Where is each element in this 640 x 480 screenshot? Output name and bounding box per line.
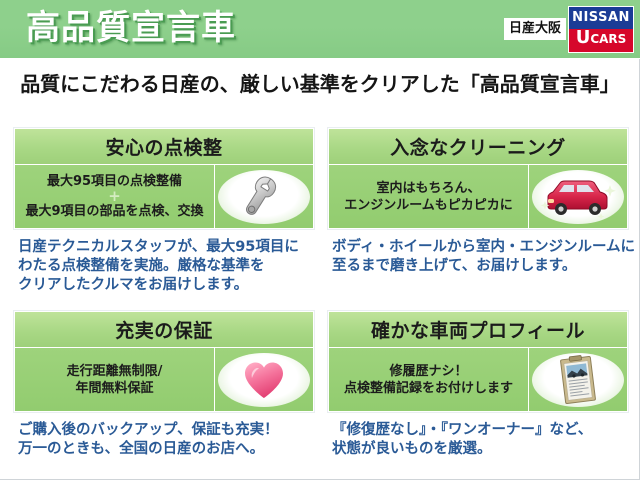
feature-grid: 安心の点検整 最大95項目の点検整備 + 最大9項目の部品を点検、交換 — [14, 128, 628, 459]
card-title-inspection: 安心の点検整 — [15, 129, 313, 164]
subtext-line-1: 走行距離無制限/ — [67, 363, 163, 380]
plus-separator-icon: + — [108, 190, 121, 203]
icon-backdrop — [218, 170, 310, 224]
icon-backdrop — [532, 353, 624, 407]
subtext-line-2: エンジンルームもピカピカに — [344, 197, 513, 214]
card-body-warranty: 走行距離無制限/ 年間無料保証 — [15, 347, 313, 411]
nissan-ucars-logo: NISSAN UCARS — [568, 6, 634, 53]
feature-card-cleaning: 入念なクリーニング 室内はもちろん、 エンジンルームもピカピカに — [328, 128, 628, 229]
feature-card-inspection: 安心の点検整 最大95項目の点検整備 + 最大9項目の部品を点検、交換 — [14, 128, 314, 229]
card-title-cleaning: 入念なクリーニング — [329, 129, 627, 164]
caption-line-3: クリアしたクルマをお届けします。 — [18, 276, 312, 295]
header-band: 高品質宣言車 日産大阪 NISSAN UCARS — [0, 0, 640, 59]
caption-line-2: 万一のときも、全国の日産のお店へ。 — [18, 440, 312, 459]
caption-line-1: 日産テクニカルスタッフが、最大95項目に — [18, 238, 312, 257]
record-document-icon — [555, 355, 601, 405]
heart-icon — [242, 359, 286, 401]
icon-box-profile — [528, 348, 627, 411]
icon-box-cleaning — [528, 165, 627, 228]
icon-box-warranty — [214, 348, 313, 411]
card-subtext-warranty: 走行距離無制限/ 年間無料保証 — [15, 348, 214, 411]
subtext-line-2: 年間無料保証 — [75, 380, 153, 397]
ucars-wordmark: UCARS — [569, 29, 633, 52]
card-caption-profile: 『修復歴なし』・『ワンオーナー』など、 状態が良いものを厳選。 — [328, 412, 628, 459]
feature-cell-profile: 確かな車両プロフィール 修履歴ナシ！ 点検整備記録をお付けします — [328, 311, 628, 459]
card-subtext-inspection: 最大95項目の点検整備 + 最大9項目の部品を点検、交換 — [15, 165, 214, 228]
feature-cell-warranty: 充実の保証 走行距離無制限/ 年間無料保証 — [14, 311, 314, 459]
card-body-profile: 修履歴ナシ！ 点検整備記録をお付けします — [329, 347, 627, 411]
subtext-line-2: 最大9項目の部品を点検、交換 — [25, 203, 203, 220]
subtext-line-1: 室内はもちろん、 — [376, 180, 480, 197]
icon-box-inspection — [214, 165, 313, 228]
icon-backdrop — [532, 170, 624, 224]
red-car-icon — [540, 175, 616, 219]
card-caption-inspection: 日産テクニカルスタッフが、最大95項目に わたる点検整備を実施。厳格な基準を ク… — [14, 229, 314, 295]
card-title-profile: 確かな車両プロフィール — [329, 312, 627, 347]
page-headline: 品質にこだわる日産の、厳しい基準をクリアした「高品質宣言車」 — [0, 62, 640, 106]
nissan-wordmark: NISSAN — [569, 7, 633, 30]
card-caption-warranty: ご購入後のバックアップ、保証も充実！ 万一のときも、全国の日産のお店へ。 — [14, 412, 314, 459]
caption-line-2: 状態が良いものを厳選。 — [332, 440, 626, 459]
feature-card-warranty: 充実の保証 走行距離無制限/ 年間無料保証 — [14, 311, 314, 412]
dealer-badge: 日産大阪 — [504, 18, 566, 40]
brand-title: 高品質宣言車 — [26, 6, 236, 50]
caption-line-1: 『修復歴なし』・『ワンオーナー』など、 — [332, 421, 626, 440]
subtext-line-2: 点検整備記録をお付けします — [344, 380, 513, 397]
card-subtext-profile: 修履歴ナシ！ 点検整備記録をお付けします — [329, 348, 528, 411]
caption-line-2: わたる点検整備を実施。厳格な基準を — [18, 257, 312, 276]
wrench-icon — [238, 174, 290, 220]
brand-logos: 日産大阪 NISSAN UCARS — [504, 5, 634, 53]
card-subtext-cleaning: 室内はもちろん、 エンジンルームもピカピカに — [329, 165, 528, 228]
promo-page: 高品質宣言車 日産大阪 NISSAN UCARS 品質にこだわる日産の、厳しい基… — [0, 0, 640, 480]
feature-cell-inspection: 安心の点検整 最大95項目の点検整備 + 最大9項目の部品を点検、交換 — [14, 128, 314, 295]
card-caption-cleaning: ボディ・ホイールから室内・エンジンルームに 至るまで磨き上げて、お届けします。 — [328, 229, 628, 276]
caption-line-2: 至るまで磨き上げて、お届けします。 — [332, 257, 626, 276]
icon-backdrop — [218, 353, 310, 407]
caption-line-1: ボディ・ホイールから室内・エンジンルームに — [332, 238, 626, 257]
subtext-line-1: 修履歴ナシ！ — [389, 363, 467, 380]
card-title-warranty: 充実の保証 — [15, 312, 313, 347]
feature-cell-cleaning: 入念なクリーニング 室内はもちろん、 エンジンルームもピカピカに — [328, 128, 628, 295]
card-body-inspection: 最大95項目の点検整備 + 最大9項目の部品を点検、交換 — [15, 164, 313, 228]
ucars-letter-u: U — [576, 29, 591, 47]
feature-card-profile: 確かな車両プロフィール 修履歴ナシ！ 点検整備記録をお付けします — [328, 311, 628, 412]
card-body-cleaning: 室内はもちろん、 エンジンルームもピカピカに — [329, 164, 627, 228]
ucars-letters-cars: CARS — [590, 33, 626, 45]
caption-line-1: ご購入後のバックアップ、保証も充実！ — [18, 421, 312, 440]
